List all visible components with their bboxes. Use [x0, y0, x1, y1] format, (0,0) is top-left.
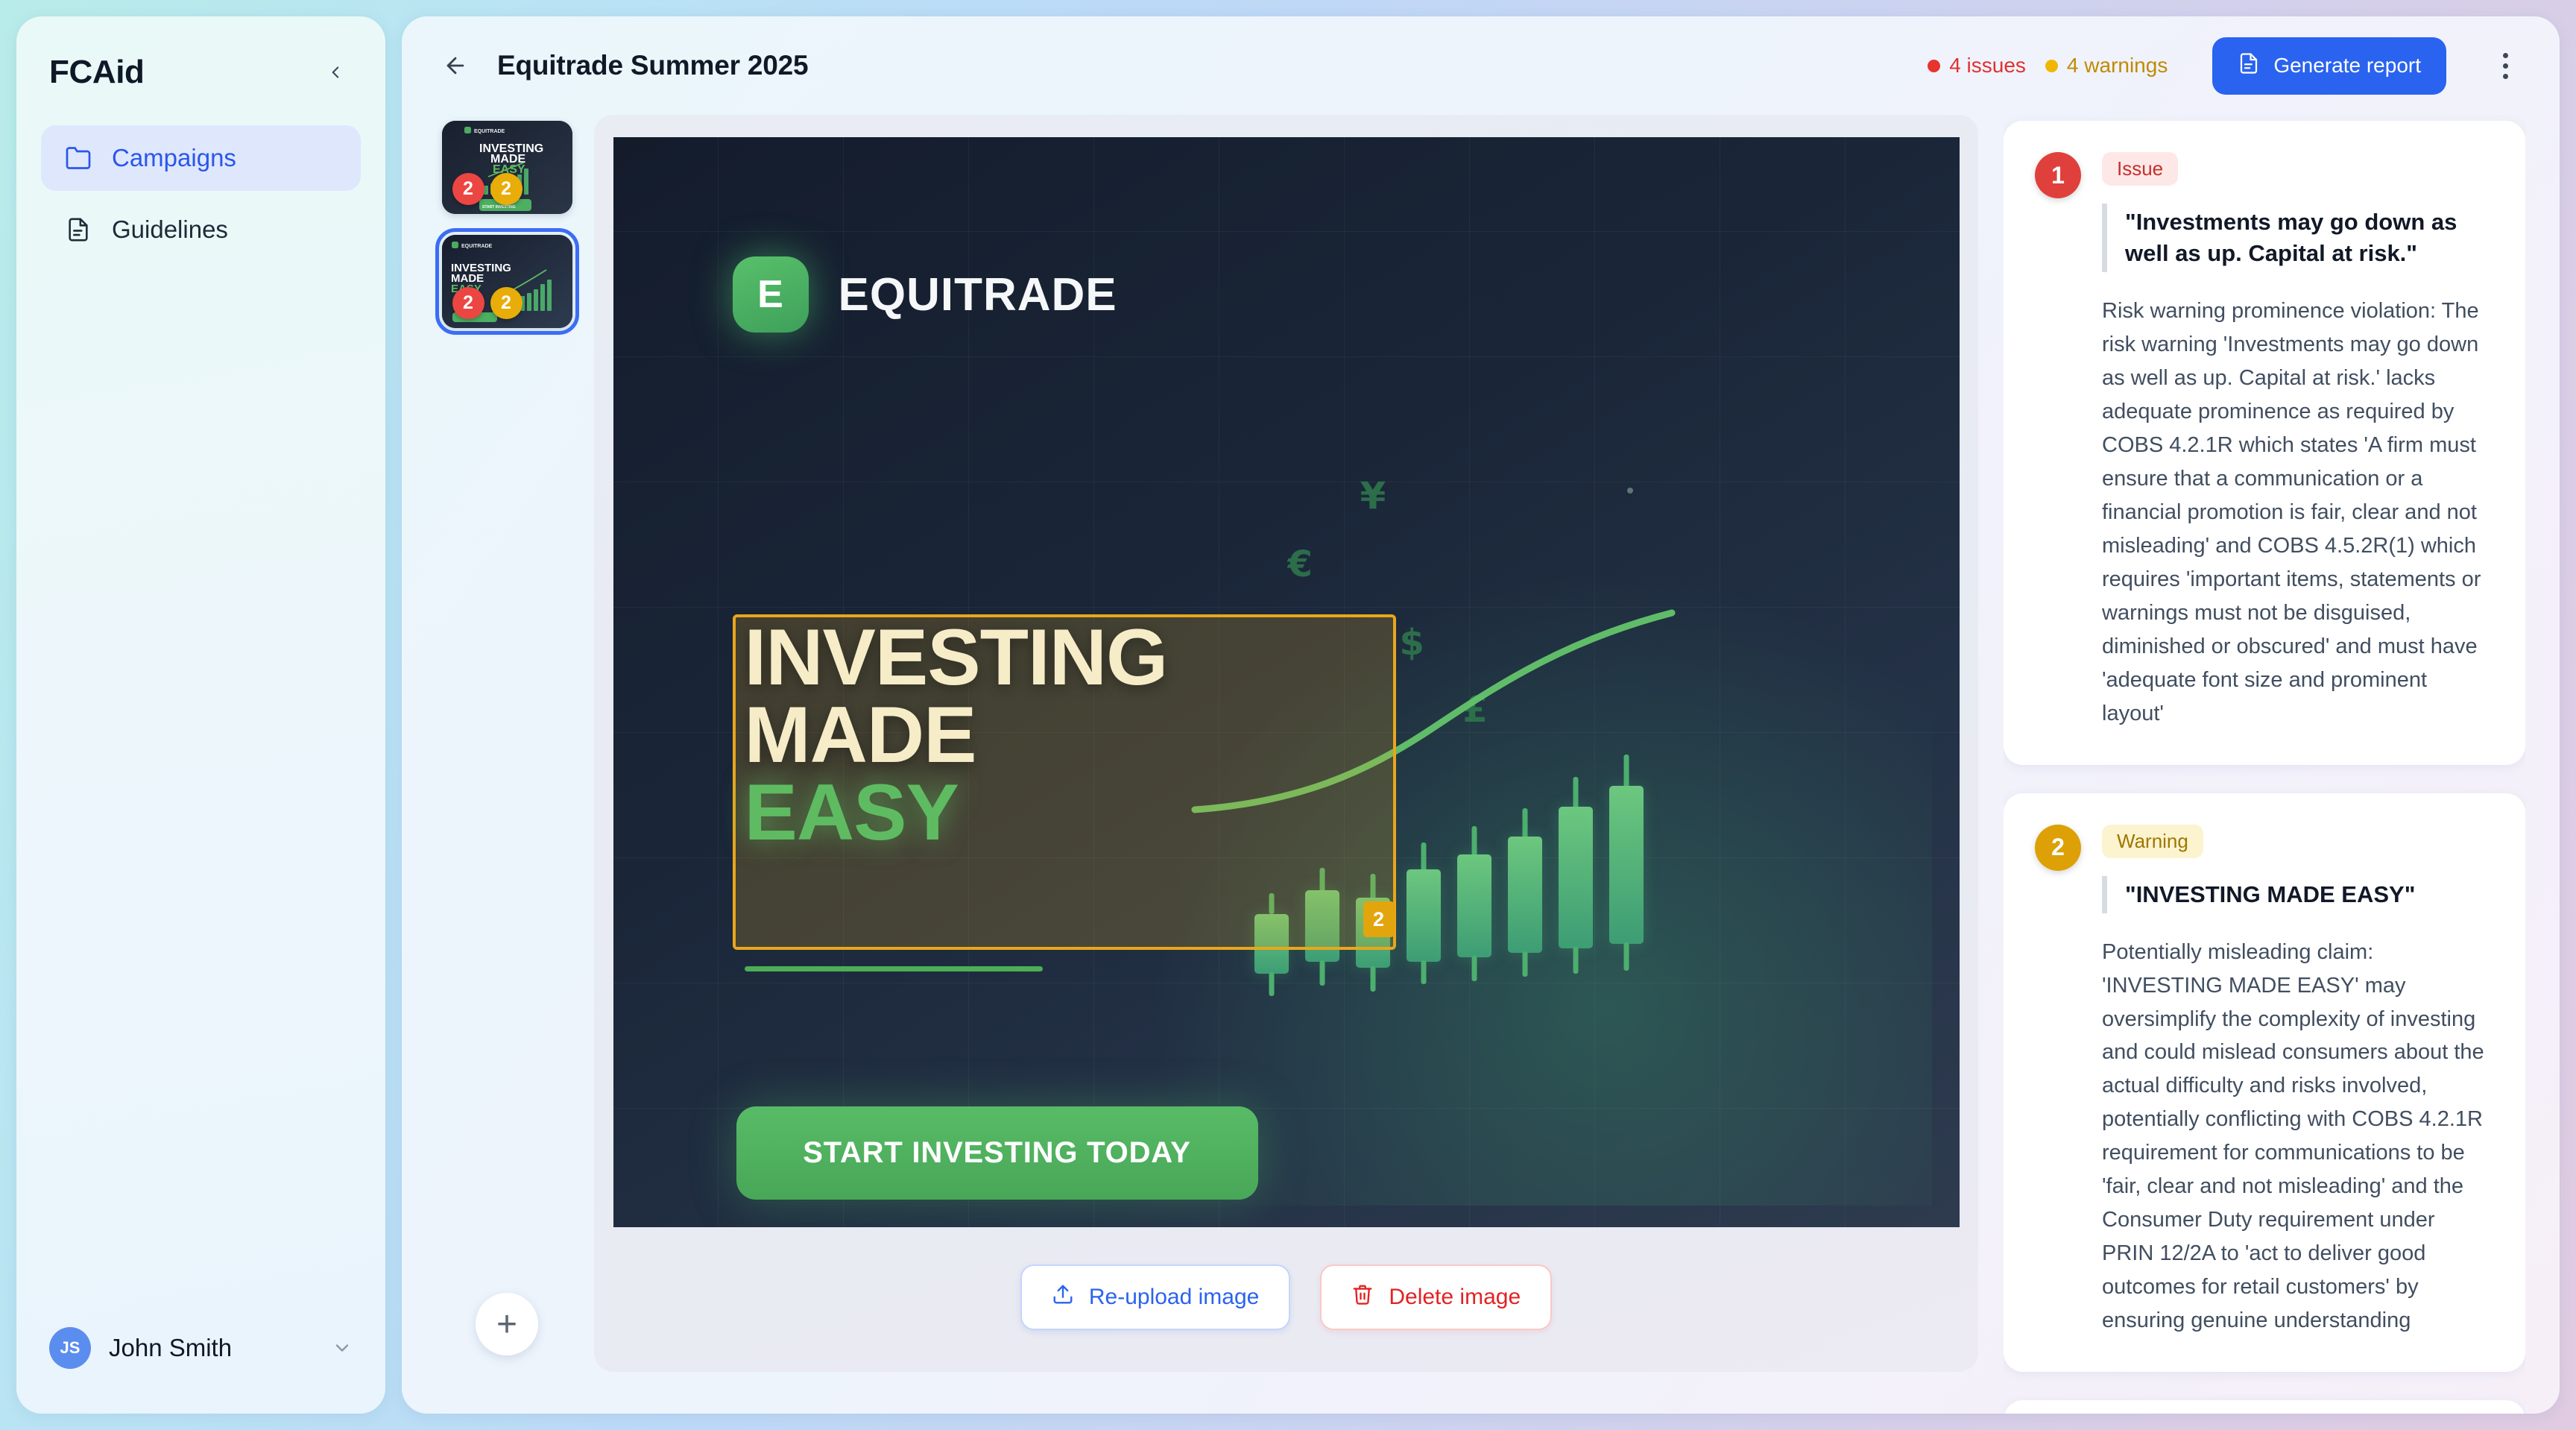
- warning-dot-icon: [2045, 60, 2058, 72]
- topbar: Equitrade Summer 2025 4 issues 4 warning…: [402, 16, 2560, 115]
- reupload-label: Re-upload image: [1089, 1285, 1259, 1310]
- document-icon: [64, 215, 92, 244]
- cta-label: START INVESTING TODAY: [803, 1136, 1191, 1170]
- creative-logo: E EQUITRADE: [733, 256, 1117, 333]
- headline-line-2: MADE: [745, 696, 1386, 774]
- sidebar: FCAid Campaigns Guidelines JS John Smith: [16, 16, 385, 1414]
- issue-card-body: Issue "Investments may go down as well a…: [2102, 152, 2491, 731]
- thumbnail-item[interactable]: EQUITRADE INVESTING MADE EASY START INVE…: [442, 121, 572, 214]
- issue-quote: "Investments may go down as well as up. …: [2102, 204, 2491, 272]
- issue-description: Potentially misleading claim: 'INVESTING…: [2102, 936, 2491, 1338]
- sidebar-item-guidelines[interactable]: Guidelines: [41, 197, 361, 262]
- folder-icon: [64, 144, 92, 172]
- issues-panel[interactable]: 1 Issue "Investments may go down as well…: [2004, 115, 2525, 1414]
- sidebar-header: FCAid: [16, 16, 385, 91]
- headline-underline: [745, 966, 1043, 971]
- issue-quote: "INVESTING MADE EASY": [2102, 876, 2491, 913]
- headline-line-3: EASY: [745, 774, 1386, 851]
- currency-euro-icon: €: [1288, 544, 1313, 585]
- delete-image-button[interactable]: Delete image: [1320, 1264, 1552, 1330]
- status-badge-warnings: 4 warnings: [2045, 54, 2168, 78]
- user-name: John Smith: [109, 1334, 314, 1362]
- generate-report-button[interactable]: Generate report: [2212, 37, 2446, 95]
- trash-icon: [1351, 1283, 1374, 1311]
- chevron-left-icon[interactable]: [318, 55, 353, 89]
- issue-number-badge: 2: [2035, 825, 2081, 871]
- brand-wordmark: EQUITRADE: [839, 268, 1117, 321]
- upload-icon: [1052, 1283, 1074, 1311]
- issue-card[interactable]: 3 Issue: [2004, 1400, 2525, 1414]
- user-profile[interactable]: JS John Smith: [16, 1327, 385, 1414]
- issue-card[interactable]: 2 Warning "INVESTING MADE EASY" Potentia…: [2004, 793, 2525, 1372]
- delete-label: Delete image: [1389, 1285, 1521, 1310]
- creative-preview[interactable]: E EQUITRADE ¥ € $ £: [613, 137, 1960, 1227]
- svg-text:EQUITRADE: EQUITRADE: [461, 244, 493, 249]
- document-icon: [2238, 52, 2260, 80]
- thumbnail-badges: 2 2: [452, 173, 523, 205]
- chevron-down-icon[interactable]: [332, 1338, 353, 1358]
- cta-button[interactable]: START INVESTING TODAY: [736, 1106, 1258, 1200]
- image-actions: Re-upload image Delete image: [1020, 1227, 1552, 1330]
- kebab-menu-icon[interactable]: [2485, 45, 2525, 86]
- arrow-left-icon[interactable]: [436, 46, 475, 85]
- thumbnail-item-selected[interactable]: EQUITRADE INVESTING MADE EASY 2 2: [442, 235, 572, 328]
- reupload-image-button[interactable]: Re-upload image: [1020, 1264, 1290, 1330]
- thumbnail-issue-count: 2: [452, 287, 484, 319]
- headline-line-1: INVESTING: [745, 619, 1386, 696]
- issue-number-badge: 1: [2035, 152, 2081, 198]
- thumbnail-warning-count: 2: [490, 173, 523, 205]
- sidebar-item-label: Guidelines: [112, 215, 228, 244]
- generate-report-label: Generate report: [2273, 54, 2421, 78]
- page-title: Equitrade Summer 2025: [497, 50, 808, 81]
- warnings-count-label: 4 warnings: [2067, 54, 2168, 78]
- workspace: EQUITRADE INVESTING MADE EASY START INVE…: [402, 115, 2560, 1414]
- svg-text:EQUITRADE: EQUITRADE: [474, 129, 505, 134]
- svg-text:START INVESTING: START INVESTING: [482, 205, 516, 210]
- creative-headline: INVESTING MADE EASY: [745, 619, 1386, 851]
- brand-name: FCAid: [49, 54, 145, 91]
- sidebar-nav: Campaigns Guidelines: [16, 125, 385, 262]
- add-image-button[interactable]: +: [476, 1293, 538, 1355]
- severity-pill: Warning: [2102, 825, 2203, 858]
- issue-description: Risk warning prominence violation: The r…: [2102, 294, 2491, 730]
- image-canvas-card: E EQUITRADE ¥ € $ £: [594, 115, 1978, 1372]
- status-badge-issues: 4 issues: [1928, 54, 2026, 78]
- thumbnail-warning-count: 2: [490, 287, 523, 319]
- thumbnail-rail: EQUITRADE INVESTING MADE EASY START INVE…: [436, 115, 578, 1414]
- severity-summary: 4 issues 4 warnings: [1928, 54, 2168, 78]
- issue-card[interactable]: 1 Issue "Investments may go down as well…: [2004, 121, 2525, 765]
- avatar: JS: [49, 1327, 91, 1369]
- issue-card-body: Warning "INVESTING MADE EASY" Potentiall…: [2102, 825, 2491, 1338]
- thumbnail-issue-count: 2: [452, 173, 484, 205]
- issue-dot-icon: [1928, 60, 1940, 72]
- spark-dot-icon: [1627, 488, 1633, 494]
- sidebar-item-label: Campaigns: [112, 144, 236, 172]
- thumbnail-badges: 2 2: [452, 287, 523, 319]
- plus-icon: +: [496, 1304, 517, 1345]
- main-panel: Equitrade Summer 2025 4 issues 4 warning…: [402, 16, 2560, 1414]
- sidebar-item-campaigns[interactable]: Campaigns: [41, 125, 361, 191]
- severity-pill: Issue: [2102, 152, 2178, 186]
- headline-warning-badge[interactable]: 2: [1363, 901, 1395, 937]
- currency-yen-icon: ¥: [1360, 474, 1386, 517]
- logo-mark-icon: E: [733, 256, 809, 333]
- issues-count-label: 4 issues: [1949, 54, 2026, 78]
